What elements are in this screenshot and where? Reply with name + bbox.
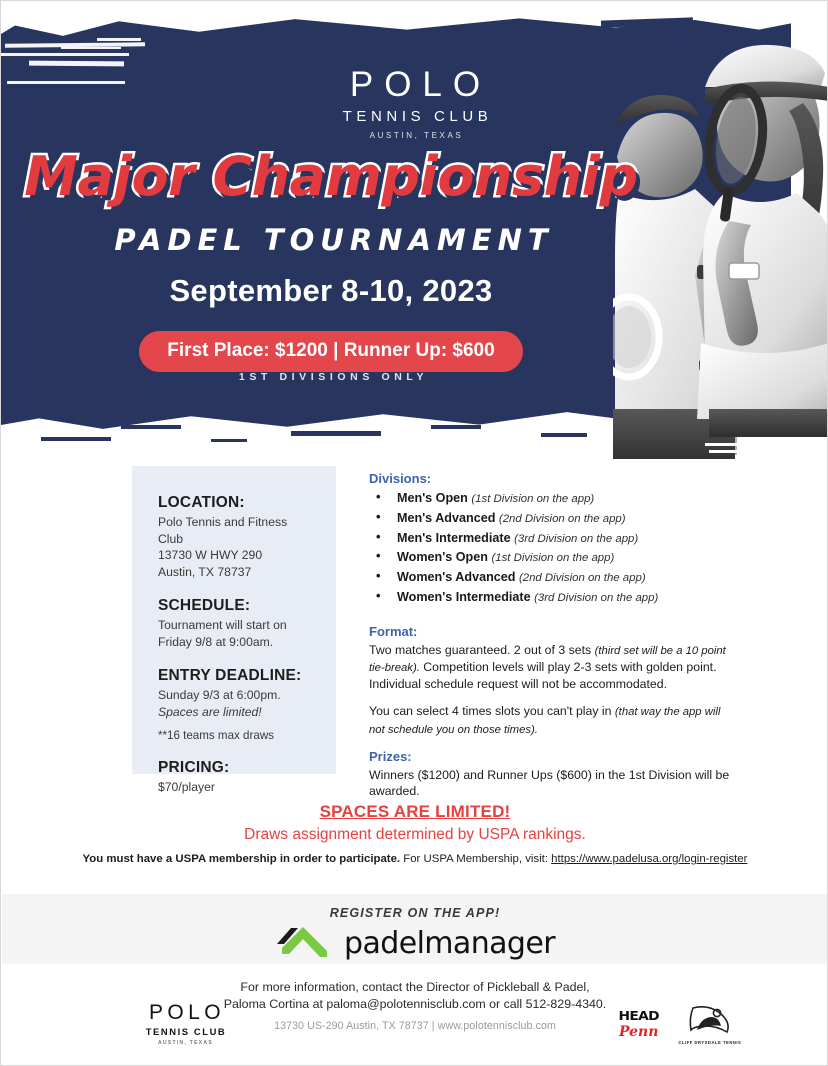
polo-tennis-club-logo: POLO TENNIS CLUB AUSTIN, TEXAS [135, 67, 695, 140]
pricing-heading: PRICING: [158, 759, 314, 777]
prize-pill-container: First Place: $1200 | Runner Up: $600 [1, 331, 661, 372]
uspa-membership-line: You must have a USPA membership in order… [1, 853, 828, 865]
list-item: Women's Intermediate (3rd Division on th… [369, 588, 731, 608]
flyer-page: POLO TENNIS CLUB AUSTIN, TEXAS Major Cha… [0, 0, 828, 1066]
info-block-location: LOCATION: Polo Tennis and Fitness Club 1… [158, 494, 314, 580]
entry-deadline-line-1: Sunday 9/3 at 6:00pm. [158, 687, 314, 704]
brush-stroke [97, 38, 141, 41]
format-text-b: Competition levels will play 2-3 sets wi… [369, 660, 717, 691]
division-name: Men's Advanced [397, 511, 495, 525]
brush-stroke [29, 61, 124, 67]
logo-line-austin: AUSTIN, TEXAS [135, 131, 695, 140]
brush-stroke [1, 53, 129, 56]
division-name: Men's Open [397, 491, 468, 505]
padelmanager-wordmark: padelmanager [344, 926, 555, 961]
division-note: (2nd Division on the app) [499, 513, 626, 525]
division-note: (2nd Division on the app) [519, 572, 646, 584]
cliff-drysdale-mark-icon [687, 1004, 733, 1034]
division-name: Women's Open [397, 550, 488, 564]
sponsor-logos: HEAD Penn CLIFF DRYSDALE TENNIS [619, 1004, 779, 1045]
navy-fleck [211, 439, 247, 442]
format-paragraph-2: You can select 4 times slots you can't p… [369, 703, 731, 737]
schedule-line-1: Tournament will start on [158, 617, 314, 634]
prizes-heading: Prizes: [369, 749, 731, 764]
head-wordmark: HEAD [616, 1009, 661, 1023]
format2-text-a: You can select 4 times slots you can't p… [369, 704, 615, 718]
padelmanager-mark-icon [275, 924, 331, 963]
event-subhead: PADEL TOURNAMENT [1, 223, 661, 257]
division-note: (1st Division on the app) [471, 493, 594, 505]
uspa-membership-link[interactable]: https://www.padelusa.org/login-register [551, 853, 747, 865]
penn-wordmark: Penn [619, 1024, 658, 1040]
division-name: Women's Intermediate [397, 590, 531, 604]
division-name: Men's Intermediate [397, 531, 511, 545]
format-heading: Format: [369, 624, 731, 639]
brush-stroke [61, 47, 121, 49]
navy-fleck [291, 431, 381, 436]
uspa-visit-text: For USPA Membership, visit: [400, 853, 551, 865]
footer-polo-logo: POLO TENNIS CLUB AUSTIN, TEXAS [137, 1002, 233, 1046]
prizes-text: Winners ($1200) and Runner Ups ($600) in… [369, 767, 731, 799]
prize-badge: First Place: $1200 | Runner Up: $600 [139, 331, 522, 372]
event-dates: September 8-10, 2023 [1, 273, 661, 309]
list-item: Men's Advanced (2nd Division on the app) [369, 509, 731, 529]
division-note: (3rd Division on the app) [534, 592, 658, 604]
entry-deadline-heading: ENTRY DEADLINE: [158, 667, 314, 685]
location-line-1: Polo Tennis and Fitness Club [158, 514, 314, 547]
navy-fleck [541, 433, 587, 437]
cliff-drysdale-caption: CLIFF DRYSDALE TENNIS [678, 1040, 741, 1045]
brush-stroke [7, 81, 125, 84]
spaces-are-limited-callout: SPACES ARE LIMITED! [1, 802, 828, 822]
info-block-entry-deadline: ENTRY DEADLINE: Sunday 9/3 at 6:00pm. Sp… [158, 667, 314, 742]
footer-logo-polo: POLO [137, 1002, 233, 1023]
navy-fleck [121, 425, 181, 429]
footer-logo-austin: AUSTIN, TEXAS [137, 1040, 233, 1046]
division-note: (1st Division on the app) [491, 552, 614, 564]
location-heading: LOCATION: [158, 494, 314, 512]
pricing-value: $70/player [158, 779, 314, 796]
divisions-list: Men's Open (1st Division on the app) Men… [369, 489, 731, 608]
divisions-heading: Divisions: [369, 471, 731, 486]
location-line-2: 13730 W HWY 290 [158, 547, 314, 564]
padelmanager-logo[interactable]: padelmanager [1, 924, 828, 963]
division-note: (3rd Division on the app) [514, 533, 638, 545]
max-draws-note: **16 teams max draws [158, 729, 314, 742]
uspa-requirement-text: You must have a USPA membership in order… [83, 853, 401, 865]
schedule-heading: SCHEDULE: [158, 597, 314, 615]
contact-line-1: For more information, contact the Direct… [1, 979, 828, 996]
cliff-drysdale-logo: CLIFF DRYSDALE TENNIS [678, 1004, 741, 1045]
list-item: Women's Open (1st Division on the app) [369, 548, 731, 568]
schedule-line-2: Friday 9/8 at 9:00am. [158, 634, 314, 651]
footer-logo-tennis-club: TENNIS CLUB [137, 1026, 233, 1037]
logo-line-polo: POLO [135, 67, 695, 102]
division-name: Women's Advanced [397, 570, 515, 584]
navy-fleck [41, 437, 111, 441]
details-column: Divisions: Men's Open (1st Division on t… [369, 471, 731, 810]
event-headline: Major Championship [1, 145, 661, 208]
list-item: Men's Intermediate (3rd Division on the … [369, 529, 731, 549]
hero-banner: POLO TENNIS CLUB AUSTIN, TEXAS Major Cha… [1, 1, 828, 461]
register-on-app-label: REGISTER ON THE APP! [1, 906, 828, 920]
navy-fleck [431, 425, 481, 429]
format-paragraph-1: Two matches guaranteed. 2 out of 3 sets … [369, 642, 731, 693]
list-item: Men's Open (1st Division on the app) [369, 489, 731, 509]
info-block-schedule: SCHEDULE: Tournament will start on Frida… [158, 597, 314, 650]
event-info-box: LOCATION: Polo Tennis and Fitness Club 1… [132, 466, 336, 774]
spaces-limited-note: Spaces are limited! [158, 704, 314, 721]
format-text-a: Two matches guaranteed. 2 out of 3 sets [369, 643, 595, 657]
list-item: Women's Advanced (2nd Division on the ap… [369, 568, 731, 588]
divisions-only-note: 1ST DIVISIONS ONLY [1, 371, 661, 383]
location-line-3: Austin, TX 78737 [158, 564, 314, 581]
draws-assignment-callout: Draws assignment determined by USPA rank… [1, 826, 828, 844]
head-penn-logo: HEAD Penn [619, 1009, 658, 1040]
info-block-pricing: PRICING: $70/player [158, 759, 314, 796]
logo-line-tennis-club: TENNIS CLUB [135, 108, 695, 125]
